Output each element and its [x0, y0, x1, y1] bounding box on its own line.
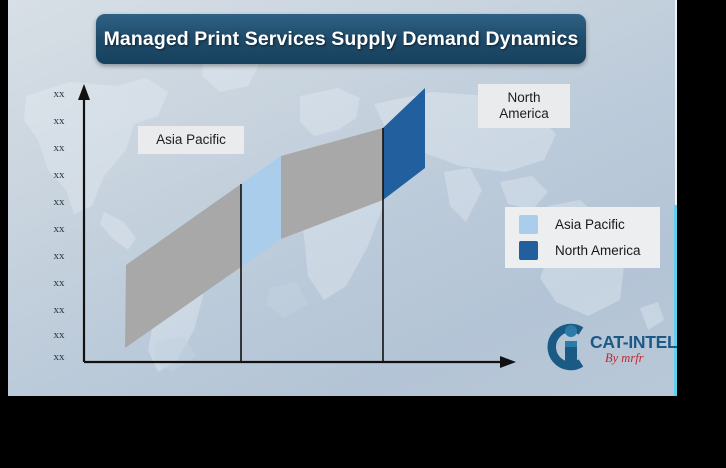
annotation-na-line2: America [499, 106, 549, 121]
band-segment-asia-pacific [241, 156, 281, 267]
cat-intel-mark-icon [541, 322, 593, 372]
logo-wordmark: CAT-INTEL [590, 332, 677, 353]
y-tick-label: xx [46, 169, 72, 181]
x-axis-arrowhead [500, 356, 516, 368]
y-tick-label: xx [46, 115, 72, 127]
y-tick-label: xx [46, 142, 72, 154]
y-tick-label: xx [46, 223, 72, 235]
logo-tagline: By mrfr [605, 351, 644, 366]
y-tick-label: xx [46, 329, 72, 341]
legend-item-asia-pacific: Asia Pacific [519, 215, 660, 234]
annotation-asia-pacific-label: Asia Pacific [156, 132, 226, 148]
cat-intel-logo: CAT-INTEL By mrfr [541, 322, 673, 378]
annotation-north-america: North America [478, 84, 570, 128]
legend-swatch-north-america [519, 241, 538, 260]
annotation-na-line1: North [507, 90, 540, 105]
y-tick-label: xx [46, 277, 72, 289]
y-tick-label: xx [46, 88, 72, 100]
annotation-asia-pacific: Asia Pacific [138, 126, 244, 154]
band-segment-other-left [125, 184, 241, 348]
band-segment-other-right [281, 128, 383, 239]
chart-legend: Asia Pacific North America [505, 207, 660, 268]
y-tick-label: xx [46, 196, 72, 208]
annotation-north-america-label: North America [499, 90, 549, 122]
slide-canvas: Managed Print Services Supply Demand Dyn… [8, 0, 677, 396]
y-tick-label: xx [46, 250, 72, 262]
y-axis-arrowhead [78, 84, 90, 100]
y-tick-label: xx [46, 351, 72, 363]
y-tick-label: xx [46, 304, 72, 316]
legend-label-asia-pacific: Asia Pacific [555, 217, 625, 232]
legend-label-north-america: North America [555, 243, 641, 258]
band-segment-north-america [383, 88, 425, 200]
legend-swatch-asia-pacific [519, 215, 538, 234]
legend-item-north-america: North America [519, 241, 660, 260]
screenshot-frame: Managed Print Services Supply Demand Dyn… [0, 0, 726, 468]
